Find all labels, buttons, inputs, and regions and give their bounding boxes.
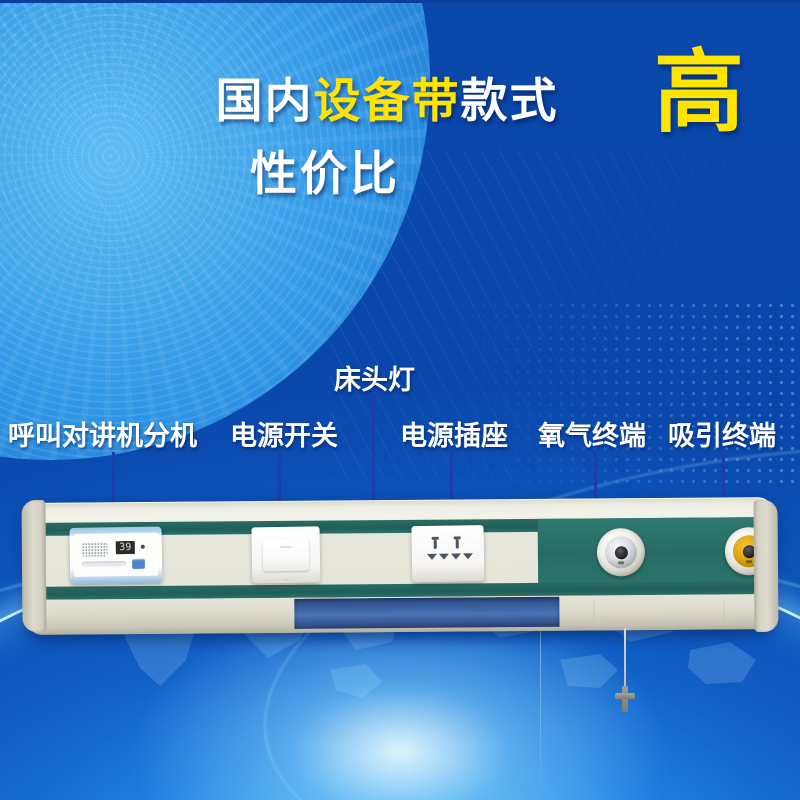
socket-faceplate [422,535,475,572]
device-face: 39 [25,497,774,635]
intercom-faceplate: 39 [74,533,159,577]
cross-plug-vertical [622,686,628,712]
suction-terminal-mark [746,560,752,563]
socket-slot-2 [439,554,449,560]
device-end-cap-left [21,500,46,632]
intercom-slot [82,561,126,567]
bed-head-unit: 39 [26,500,774,632]
power-socket-unit[interactable] [411,525,484,582]
socket-slot-3 [451,553,461,559]
socket-pin-top-a [432,537,439,540]
oxygen-port-icon [615,546,628,559]
rocker-switch-icon[interactable] [263,539,309,572]
bed-lamp-diffuser [294,597,559,629]
callout-layer: 呼叫对讲机分机 电源开关 床头灯 电源插座 氧气终端 吸引终端 [0,0,800,800]
socket-pin-live-b [456,539,459,548]
power-switch-unit[interactable] [251,526,320,583]
socket-pin-top-b [454,536,461,539]
suction-cable [723,600,725,626]
oxygen-cable [593,600,595,626]
callout-label-intercom: 呼叫对讲机分机 [8,414,197,453]
poster-canvas: 国内设备带款式 性价比 高 呼叫对讲机分机 电源开关 床头灯 电源插座 氧气终端… [0,0,800,800]
callout-label-suction: 吸引终端 [668,414,776,453]
call-intercom-unit[interactable]: 39 [69,527,162,584]
device-end-cap-right [753,500,778,632]
speaker-grille-icon [82,542,108,556]
switch-screw [285,579,287,581]
oxygen-terminal-mark [618,561,624,564]
socket-slot-4 [463,553,473,559]
rocker-mark [280,546,292,548]
hanging-cable [624,628,626,690]
socket-pin-live-a [434,540,437,549]
call-button[interactable] [132,559,145,569]
cross-plug-horizontal [615,693,635,699]
callout-label-power-socket: 电源插座 [400,414,508,453]
socket-slot-1 [427,554,437,560]
oxygen-terminal[interactable] [597,528,646,577]
callout-label-oxygen: 氧气终端 [538,414,646,453]
callout-label-bed-lamp: 床头灯 [334,358,415,397]
cross-plug-icon [615,686,635,712]
callout-label-power-switch: 电源开关 [230,414,338,453]
intercom-display: 39 [116,541,135,554]
status-led-icon [141,545,145,549]
